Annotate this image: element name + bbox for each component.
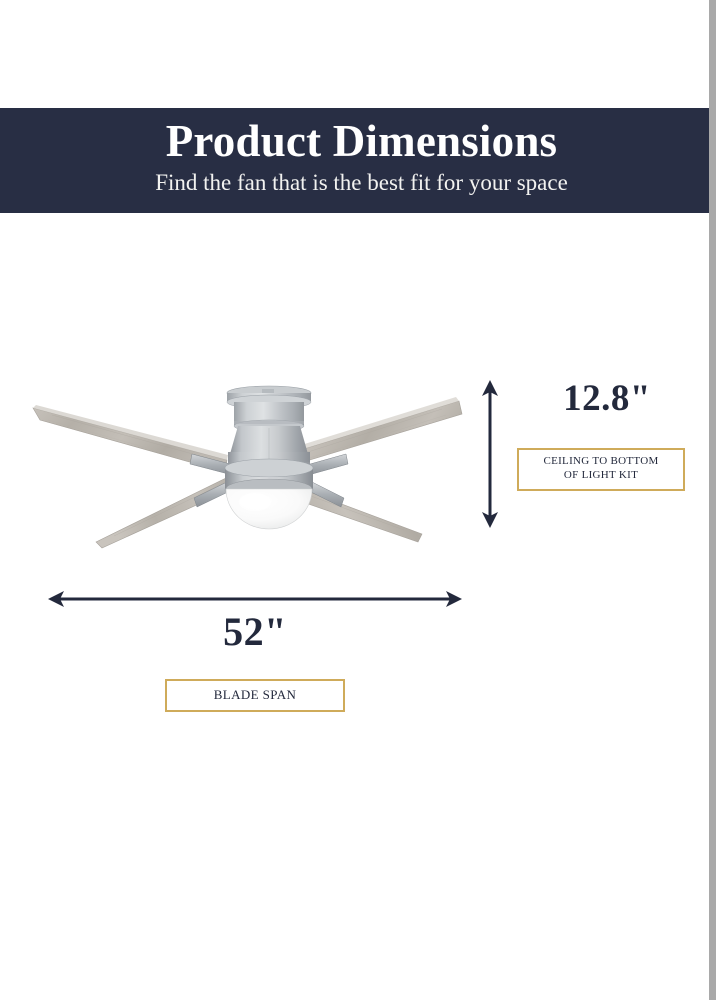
header-band: Product Dimensions Find the fan that is …	[0, 108, 723, 213]
scrollbar-gutter	[716, 0, 723, 1000]
blade-span-label-text: BLADE SPAN	[171, 687, 339, 703]
page-scrollbar[interactable]	[709, 0, 716, 1000]
fan-blade-lower-left	[96, 473, 237, 548]
page-title: Product Dimensions	[0, 108, 723, 165]
product-dimensions-page: Product Dimensions Find the fan that is …	[0, 0, 723, 1000]
ceiling-fan-illustration	[22, 376, 472, 556]
blade-span-label-box: BLADE SPAN	[165, 679, 345, 712]
fan-light-kit-dome	[226, 479, 312, 529]
height-value: 12.8"	[516, 380, 698, 417]
height-label-text: CEILING TO BOTTOM OF LIGHT KIT	[523, 455, 679, 483]
blade-span-value: 52"	[40, 612, 470, 652]
height-label-box: CEILING TO BOTTOM OF LIGHT KIT	[517, 448, 685, 491]
blade-span-dimension-callout: 52" BLADE SPAN	[40, 580, 480, 720]
height-dimension-callout: 12.8" CEILING TO BOTTOM OF LIGHT KIT	[470, 372, 705, 532]
height-arrow-icon	[478, 378, 502, 535]
page-subtitle: Find the fan that is the best fit for yo…	[0, 165, 723, 195]
